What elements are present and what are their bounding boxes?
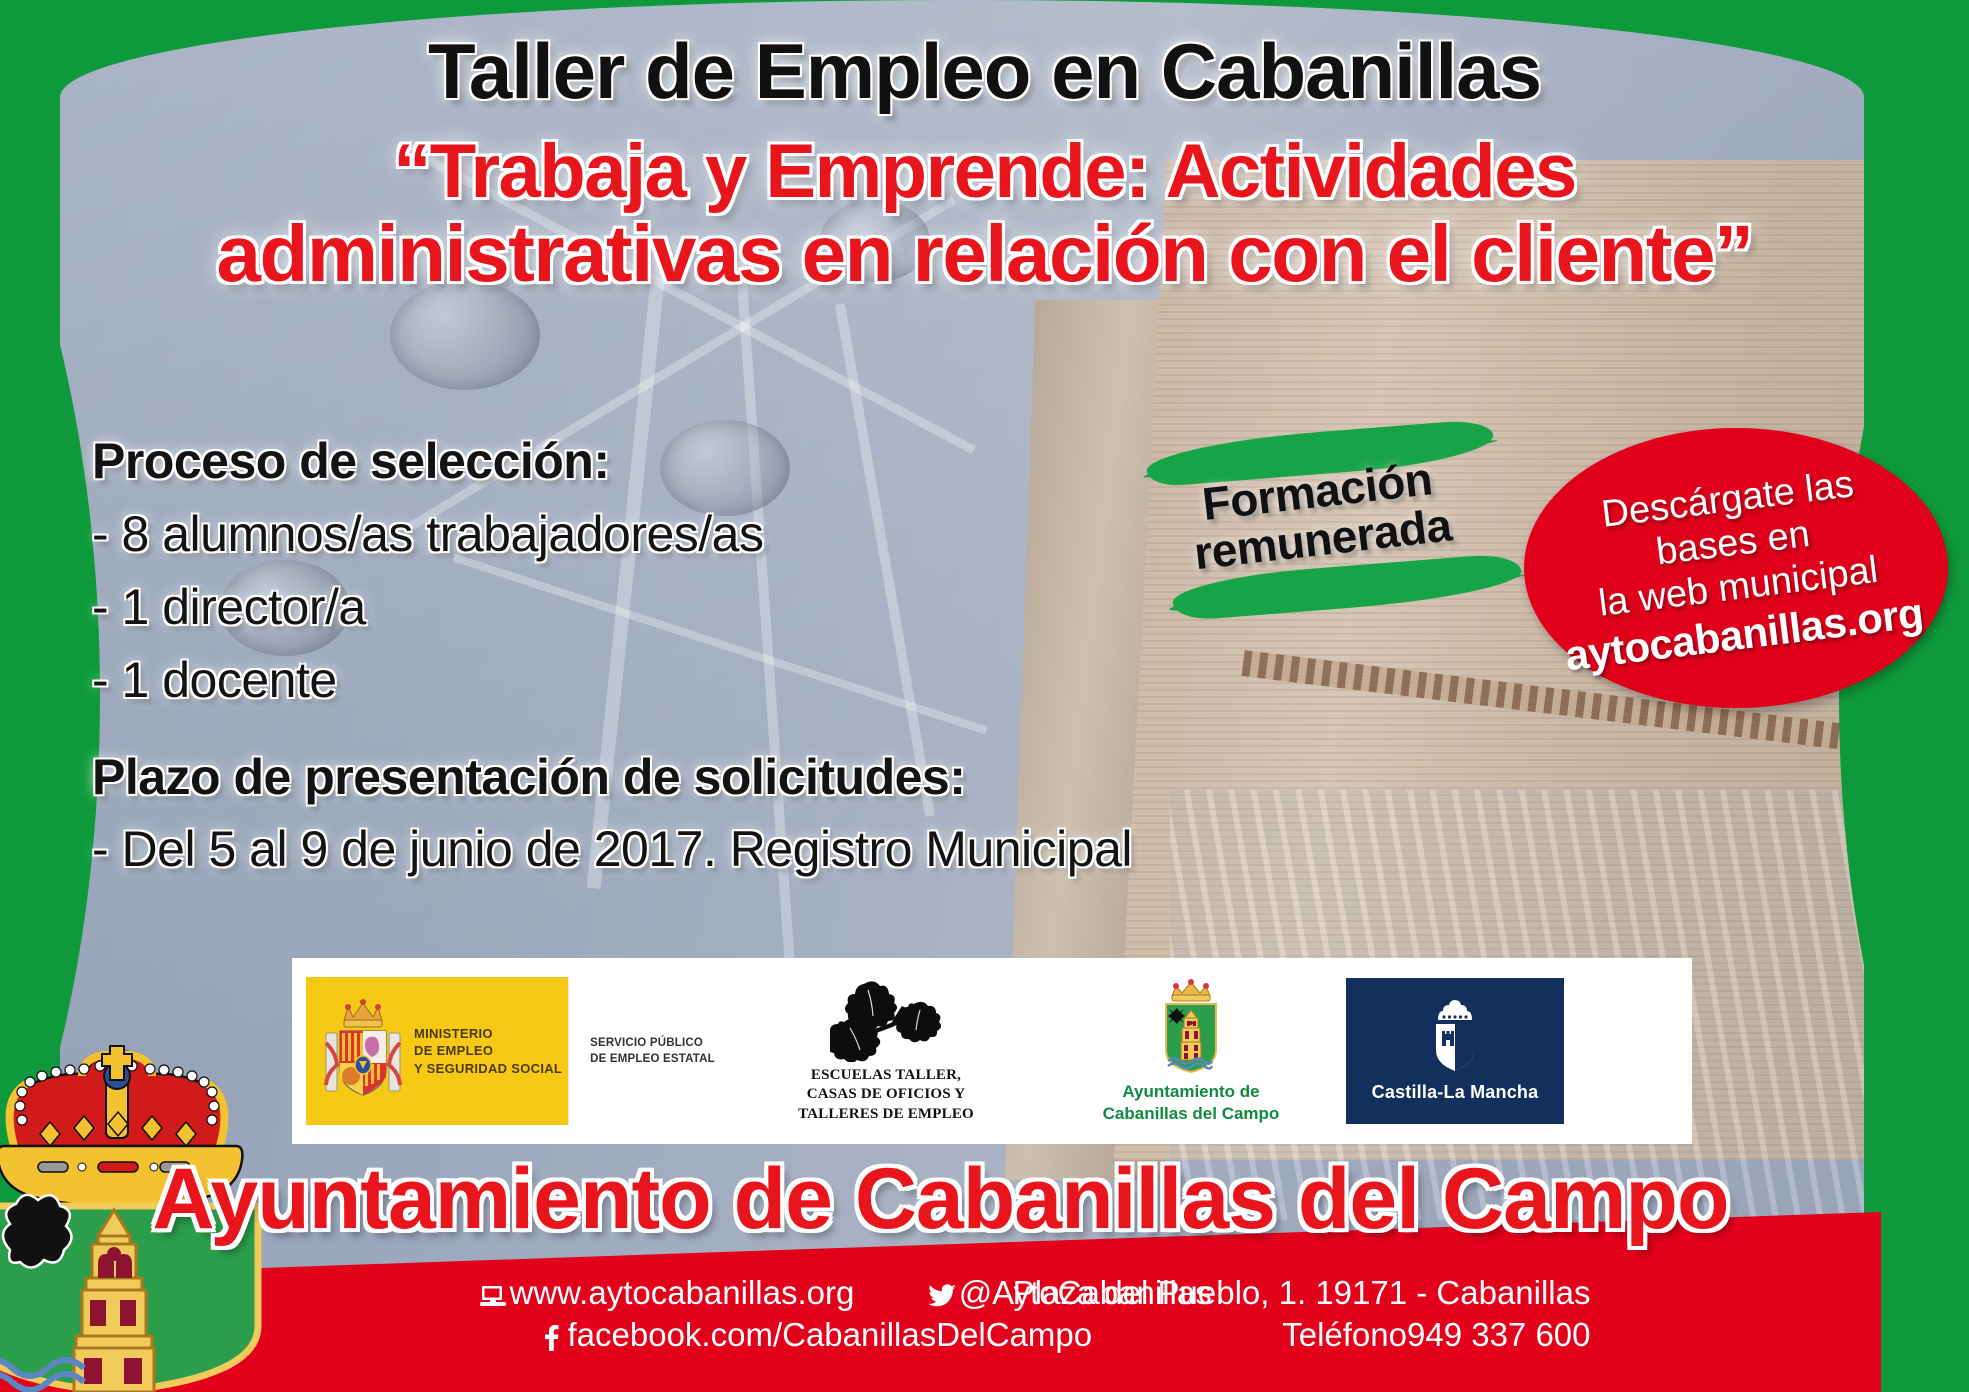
plazo-dates: - Del 5 al 9 de junio de 2017. Registro … [92,820,1132,878]
escuelas-line-1: ESCUELAS TALLER, [798,1066,974,1086]
footer-website[interactable]: www.aytocabanillas.org [510,1274,855,1311]
ayuntamiento-line-2: Cabanillas del Campo [1103,1103,1280,1125]
ministerio-label: MINISTERIO DE EMPLEO Y SEGURIDAD SOCIAL [414,1025,562,1076]
ministerio-line-1: MINISTERIO [414,1025,562,1042]
ministerio-yellow-panel: MINISTERIO DE EMPLEO Y SEGURIDAD SOCIAL [306,977,568,1125]
seleccion-heading: Proceso de selección: [92,432,610,490]
logo-castilla-la-mancha: Castilla-La Mancha [1346,968,1564,1134]
footer-contact-info: www.aytocabanillas.org @AytoCabanillas f… [0,1272,1881,1392]
formacion-remunerada-badge: Formación remunerada [1120,420,1520,620]
subtitle-line-2: administrativas en relación con el clien… [60,212,1909,296]
ayuntamiento-wordmark: Ayuntamiento de Cabanillas del Campo [0,1150,1881,1249]
page-title: Taller de Empleo en Cabanillas [0,26,1969,117]
page-subtitle: “Trabaja y Emprende: Actividades adminis… [60,132,1909,296]
logo-ayuntamiento-cabanillas: Ayuntamiento de Cabanillas del Campo [1036,968,1346,1134]
escuelas-taller-label: ESCUELAS TALLER, CASAS DE OFICIOS Y TALL… [798,1066,974,1125]
sponsor-logo-bar: MINISTERIO DE EMPLEO Y SEGURIDAD SOCIAL … [292,958,1692,1144]
sepe-line-2: DE EMPLEO ESTATAL [590,1051,715,1067]
descarga-bases-badge[interactable]: Descárgate las bases en la web municipal… [1524,428,1948,708]
sepe-white-panel: SERVICIO PÚBLICO DE EMPLEO ESTATAL [568,977,736,1125]
footer-address: Plaza del Pueblo, 1. 19171 - Cabanillas [971,1272,1591,1314]
footer-web-row[interactable]: www.aytocabanillas.org @AytoCabanillas [476,1272,971,1314]
poster-canvas: Taller de Empleo en Cabanillas “Trabaja … [0,0,1969,1392]
ayuntamiento-line-1: Ayuntamiento de [1103,1081,1280,1103]
logo-ministerio-empleo: MINISTERIO DE EMPLEO Y SEGURIDAD SOCIAL … [306,968,736,1134]
escuelas-line-2: CASAS DE OFICIOS Y [798,1085,974,1105]
footer-phone: Teléfono949 337 600 [971,1314,1591,1356]
seleccion-item-alumnos: - 8 alumnos/as trabajadores/as [92,505,763,563]
ministerio-line-2: DE EMPLEO [414,1042,562,1059]
ministerio-line-3: Y SEGURIDAD SOCIAL [414,1060,562,1077]
ayuntamiento-logo-label: Ayuntamiento de Cabanillas del Campo [1103,1081,1280,1125]
oak-leaves-icon [830,978,942,1062]
logo-escuelas-taller: ESCUELAS TALLER, CASAS DE OFICIOS Y TALL… [736,968,1036,1134]
seleccion-item-docente: - 1 docente [92,651,337,709]
seleccion-item-director: - 1 director/a [92,578,366,636]
castilla-shield-icon [1424,1000,1486,1074]
spain-coat-of-arms-icon [320,991,406,1111]
monitor-icon [476,1272,510,1314]
plazo-heading: Plazo de presentación de solicitudes: [92,748,965,806]
sepe-label: SERVICIO PÚBLICO DE EMPLEO ESTATAL [590,1035,715,1067]
castilla-label: Castilla-La Mancha [1372,1082,1539,1103]
cabanillas-shield-icon [1152,978,1230,1076]
escuelas-line-3: TALLERES DE EMPLEO [798,1105,974,1125]
footer-facebook-row[interactable]: facebook.com/CabanillasDelCampo [476,1314,971,1356]
subtitle-line-1: “Trabaja y Emprende: Actividades [393,129,1576,214]
facebook-f-icon [534,1314,568,1356]
bases-badge-text: Descárgate las bases en la web municipal… [1509,403,1964,733]
twitter-bird-icon [925,1272,959,1314]
sepe-line-1: SERVICIO PÚBLICO [590,1035,715,1051]
